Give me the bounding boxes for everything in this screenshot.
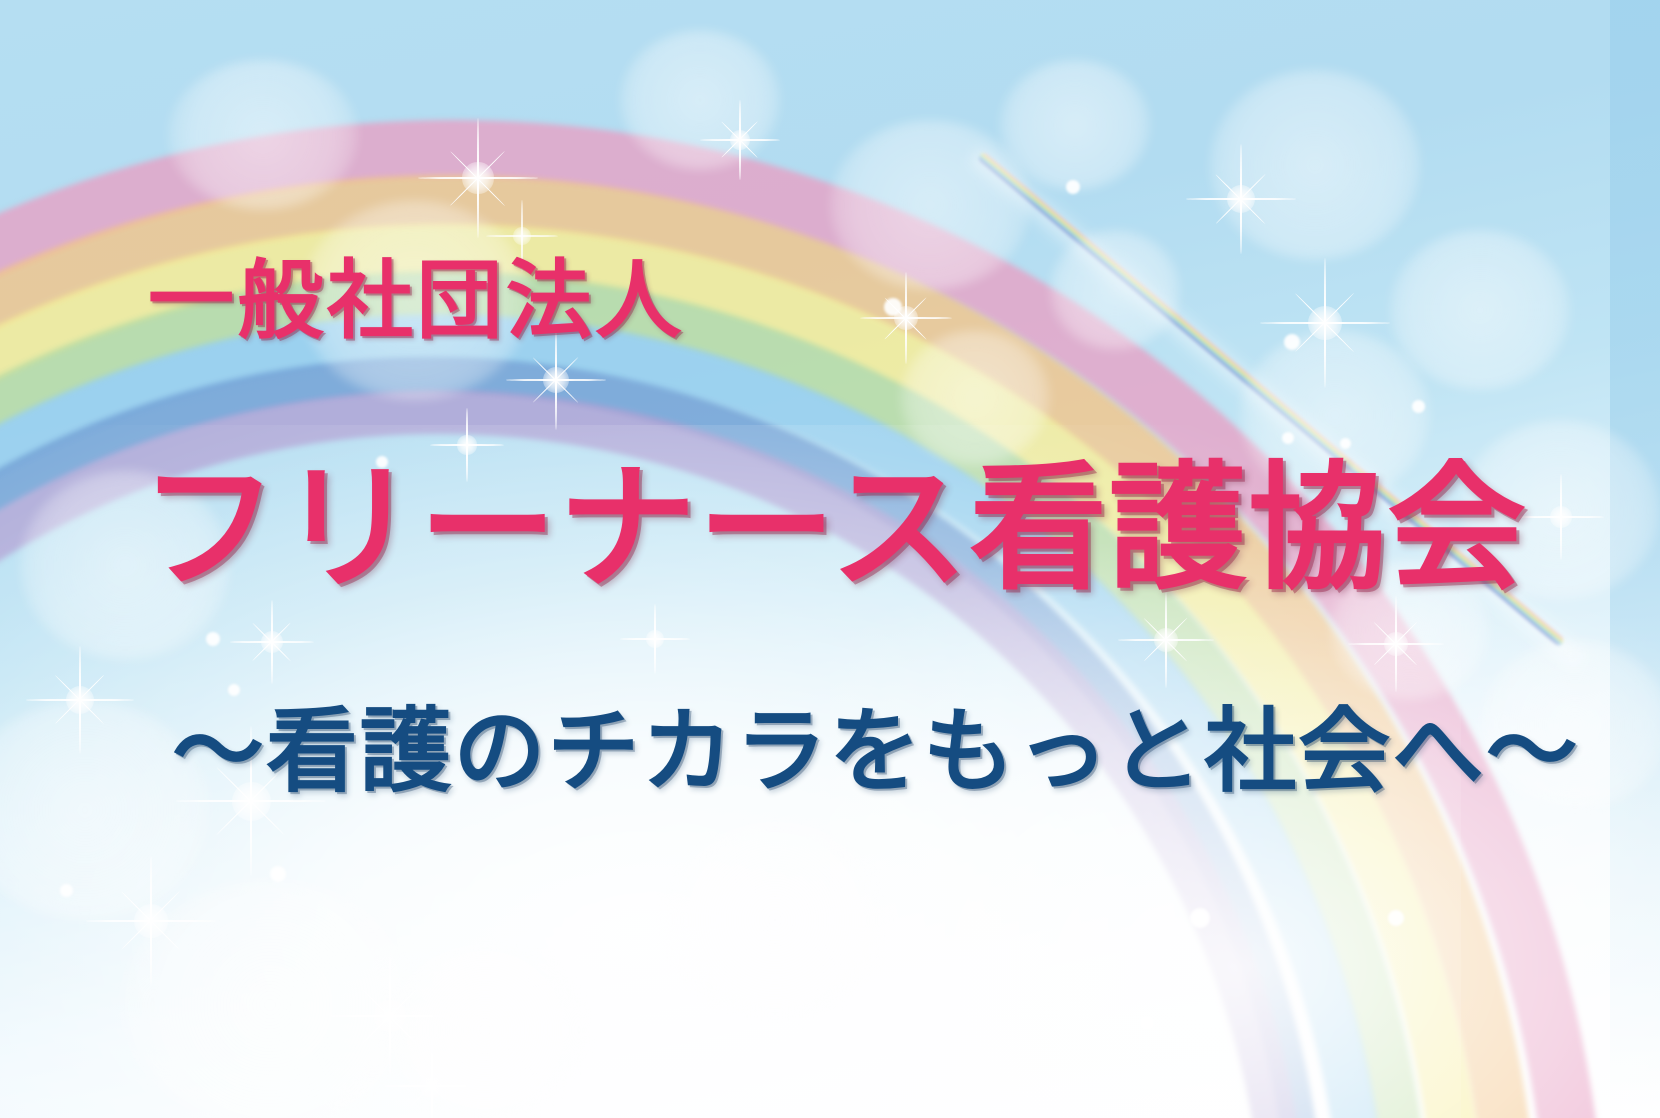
organization-type-text: 一般社団法人 — [148, 258, 685, 344]
tagline-text: 〜看護のチカラをもっと社会へ〜 — [172, 706, 1580, 798]
text-layer: 一般社団法人 フリーナース看護協会 〜看護のチカラをもっと社会へ〜 — [0, 0, 1660, 1118]
banner-image: 一般社団法人 フリーナース看護協会 〜看護のチカラをもっと社会へ〜 — [0, 0, 1660, 1118]
organization-name-title: フリーナース看護協会 — [140, 460, 1527, 598]
